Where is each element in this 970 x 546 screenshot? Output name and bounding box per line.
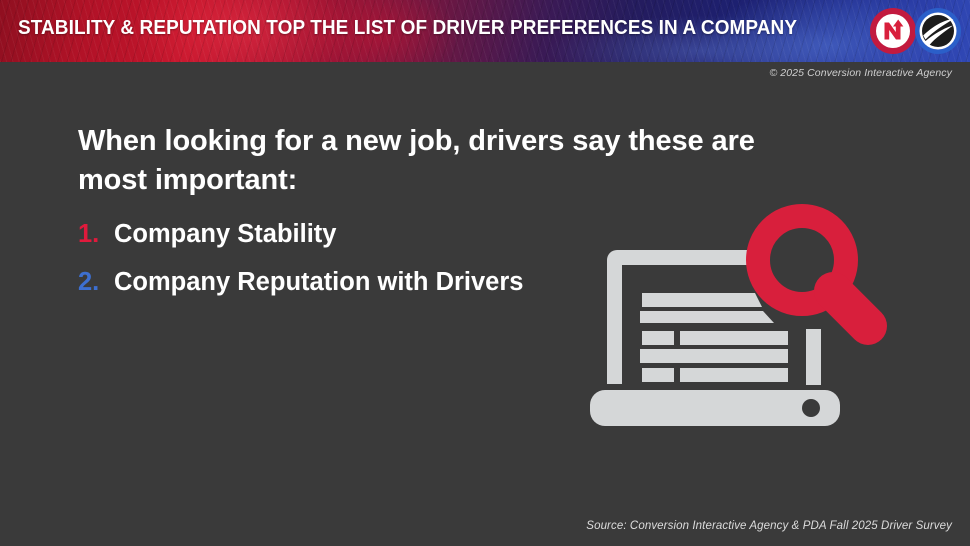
- laptop-search-illustration: [580, 198, 910, 440]
- laptop-screen-right-edge: [806, 329, 821, 385]
- list-item: 1. Company Stability: [78, 219, 638, 251]
- laptop-base-dot: [802, 399, 820, 417]
- list-item-label: Company Stability: [114, 219, 336, 251]
- copyright-notice: © 2025 Conversion Interactive Agency: [769, 67, 952, 79]
- logo-group: [869, 7, 962, 55]
- slide-root: STABILITY & REPUTATION TOP THE LIST OF D…: [0, 0, 970, 546]
- list-item: 2. Company Reputation with Drivers: [78, 267, 638, 299]
- list-item-number: 1.: [78, 219, 114, 251]
- magnifying-glass: [758, 216, 868, 326]
- list-item-label: Company Reputation with Drivers: [114, 267, 523, 299]
- pda-logo: [914, 7, 962, 55]
- header-banner: STABILITY & REPUTATION TOP THE LIST OF D…: [0, 0, 970, 62]
- page-title: STABILITY & REPUTATION TOP THE LIST OF D…: [18, 18, 797, 39]
- laptop-list-lines: [640, 293, 788, 382]
- conversion-interactive-agency-logo: [869, 7, 917, 55]
- source-citation: Source: Conversion Interactive Agency & …: [586, 520, 952, 532]
- preferences-list: 1. Company Stability 2. Company Reputati…: [78, 219, 638, 315]
- list-item-number: 2.: [78, 267, 114, 299]
- headline-text: When looking for a new job, drivers say …: [78, 122, 768, 199]
